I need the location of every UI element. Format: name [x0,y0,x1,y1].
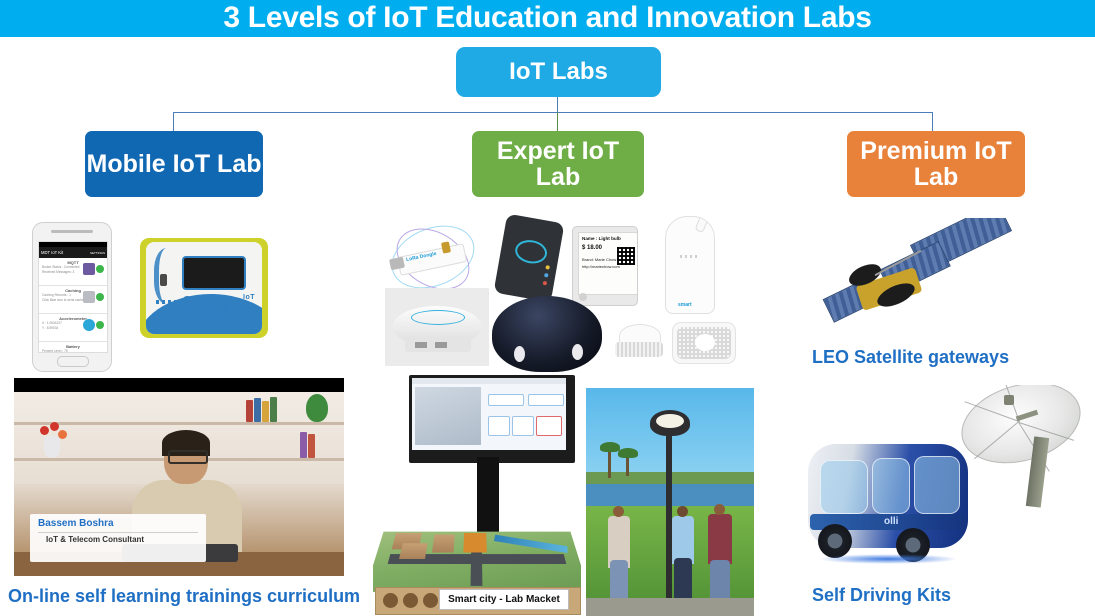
title-banner: 3 Levels of IoT Education and Innovation… [0,0,1095,37]
speaker-aperture [695,334,715,351]
training-video-thumbnail[interactable]: Bassem Boshra IoT & Telecom Consultant [14,378,344,576]
app-card-mqtt: MQTT Broker Status : Connected Received … [39,258,107,286]
dashboard-card [512,416,534,436]
shuttle-brand-logo: olli [884,516,898,527]
dashboard-card [488,416,510,436]
city-model-board [373,532,581,592]
flower [50,422,59,431]
person [672,516,694,564]
gateway-display [182,256,246,290]
video-frame: Bassem Boshra IoT & Telecom Consultant [14,392,344,562]
flower [58,430,67,439]
cloud-icon[interactable] [83,263,95,275]
eink-button[interactable] [579,293,587,301]
status-led [545,265,550,270]
macket-knob [383,593,398,608]
status-led [543,281,548,286]
gateway-button[interactable] [182,296,193,307]
connector-root-vertical [557,97,558,113]
dashboard-floorplan [415,387,481,445]
gateway-port [160,274,167,286]
caption-smart-city-macket: Smart city - Lab Macket [439,589,569,610]
caption-leo-satellite-gateways: LEO Satellite gateways [812,347,1009,368]
camera-lens [572,344,583,360]
smoke-detector [613,322,665,362]
browser-toolbar [412,378,566,384]
dashboard-card [536,416,562,436]
gateway-brand-label: IoT [243,294,255,301]
nfc-ring-icon [513,238,549,266]
node-iot-labs[interactable]: IoT Labs [456,47,661,97]
divider [38,532,198,533]
nfc-icon: N [200,294,226,320]
smartphone-mockup: MDT IoT Kit SETTINGS MQTT Broker Status … [32,222,112,372]
leo-satellite [820,218,1020,338]
phone-screen: MDT IoT Kit SETTINGS MQTT Broker Status … [38,241,108,353]
flower [40,426,49,435]
node-premium-iot-lab[interactable]: Premium IoT Lab [847,131,1025,197]
book [262,401,269,422]
eink-display: Name : Light bulb $ 18.00 Brand: Marie C… [578,232,638,295]
smart-city-lab-macket: Smart city - Lab Macket [373,373,581,616]
node-mobile-iot-lab-label: Mobile IoT Lab [87,151,262,177]
person [708,514,732,564]
speaker-role: IoT & Telecom Consultant [38,535,198,544]
node-premium-iot-lab-label: Premium IoT Lab [847,138,1025,191]
led-halo [411,310,465,325]
antenna [694,216,715,233]
vent-grill [680,255,700,258]
app-card-accelerometer: Accelerometer X : 1.0634137 Y : 8.59034 [39,314,107,342]
lora-usb-dongle: LoRa Dongle [384,222,480,296]
model-building [399,543,428,559]
model-building [463,533,487,552]
display-monitor [409,375,575,463]
sensor-port [435,342,447,348]
page-title: 3 Levels of IoT Education and Innovation… [0,0,1095,37]
detector-grill [615,342,663,357]
node-expert-iot-lab-label: Expert IoT Lab [472,138,644,191]
palm-fronds [600,442,620,452]
ceiling-sensor-dome [385,288,489,366]
potted-plant [306,394,328,422]
white-grill-speaker [672,322,736,364]
speaker-glasses [168,450,208,464]
check-circle-icon [96,321,104,329]
black-nfc-reader [493,214,564,303]
monitor-screen [412,378,566,450]
shuttle-underglow [818,554,958,564]
app-title: MDT IoT Kit [41,250,63,255]
dish-reflector [960,385,1090,476]
kerb [586,598,754,616]
dashboard-card [488,394,524,406]
eink-price-tag: Name : Light bulb $ 18.00 Brand: Marie C… [572,226,638,306]
person-head [677,506,688,517]
gateway-s-curve-graphic [154,248,185,304]
ap-brand-label: smart [678,302,692,308]
database-icon[interactable] [83,291,95,303]
model-building [432,534,455,552]
app-menu-settings[interactable]: SETTINGS [90,251,105,255]
macket-knob [403,593,418,608]
connector-branch-mobile [173,112,174,132]
book [308,434,315,458]
caption-self-driving-kits: Self Driving Kits [812,585,951,606]
app-card-caching: Caching Caching Records : 1 Click Blue i… [39,286,107,314]
shuttle-window [820,460,868,514]
connector-branch-expert [557,112,558,132]
status-led [544,273,549,278]
eink-product-name: Name : Light bulb [582,236,636,241]
gateway-faceplate: N IoT [146,242,262,334]
person-head [714,504,725,515]
black-dome-camera [492,296,602,372]
iot-gateway-device: N IoT [140,238,268,338]
palm-fronds [618,448,638,458]
caption-online-curriculum: On-line self learning trainings curricul… [8,586,360,607]
sensor-port [415,342,427,348]
shuttle-window [914,456,960,514]
dashboard-card [528,394,564,406]
check-circle-icon [96,265,104,273]
lamp-luminaire [656,414,684,428]
book [270,397,277,422]
model-river [494,535,568,554]
speaker-name: Bassem Boshra [38,518,198,529]
node-mobile-iot-lab[interactable]: Mobile IoT Lab [85,131,263,197]
app-card-battery: Battery Percent Level : 75 [39,342,107,353]
wifi-access-point: smart [665,216,715,314]
shuttle-wheel [818,524,852,558]
qr-code-icon [617,247,635,265]
check-circle-icon [96,293,104,301]
accelerometer-icon[interactable] [83,319,95,331]
macket-knob [423,593,438,608]
book [300,432,307,458]
app-card-battery-line1: Percent Level : 75 [42,349,104,353]
connector-horizontal [173,112,933,113]
dish-feed-horn [1004,395,1014,405]
gateway-led-strip [156,300,178,304]
node-expert-iot-lab[interactable]: Expert IoT Lab [472,131,644,197]
speaker-name-card: Bassem Boshra IoT & Telecom Consultant [30,514,206,562]
app-title-bar: MDT IoT Kit SETTINGS [39,247,107,258]
node-iot-labs-label: IoT Labs [509,59,608,84]
person-head [613,506,624,517]
connector-branch-premium [932,112,933,132]
flower-vase [44,436,60,458]
palm-trunk [608,448,611,478]
shelf-line [14,422,344,425]
self-driving-shuttle: olli [800,420,980,580]
camera-lens [514,346,525,362]
shuttle-window [872,458,910,514]
phone-bezel [33,223,111,240]
smart-lamppost-field-photo [586,388,754,616]
book [246,400,253,422]
book [254,398,261,422]
phone-speaker-grill [51,230,93,233]
parabolic-ground-dish [960,385,1092,510]
phone-home-button[interactable] [57,356,89,367]
